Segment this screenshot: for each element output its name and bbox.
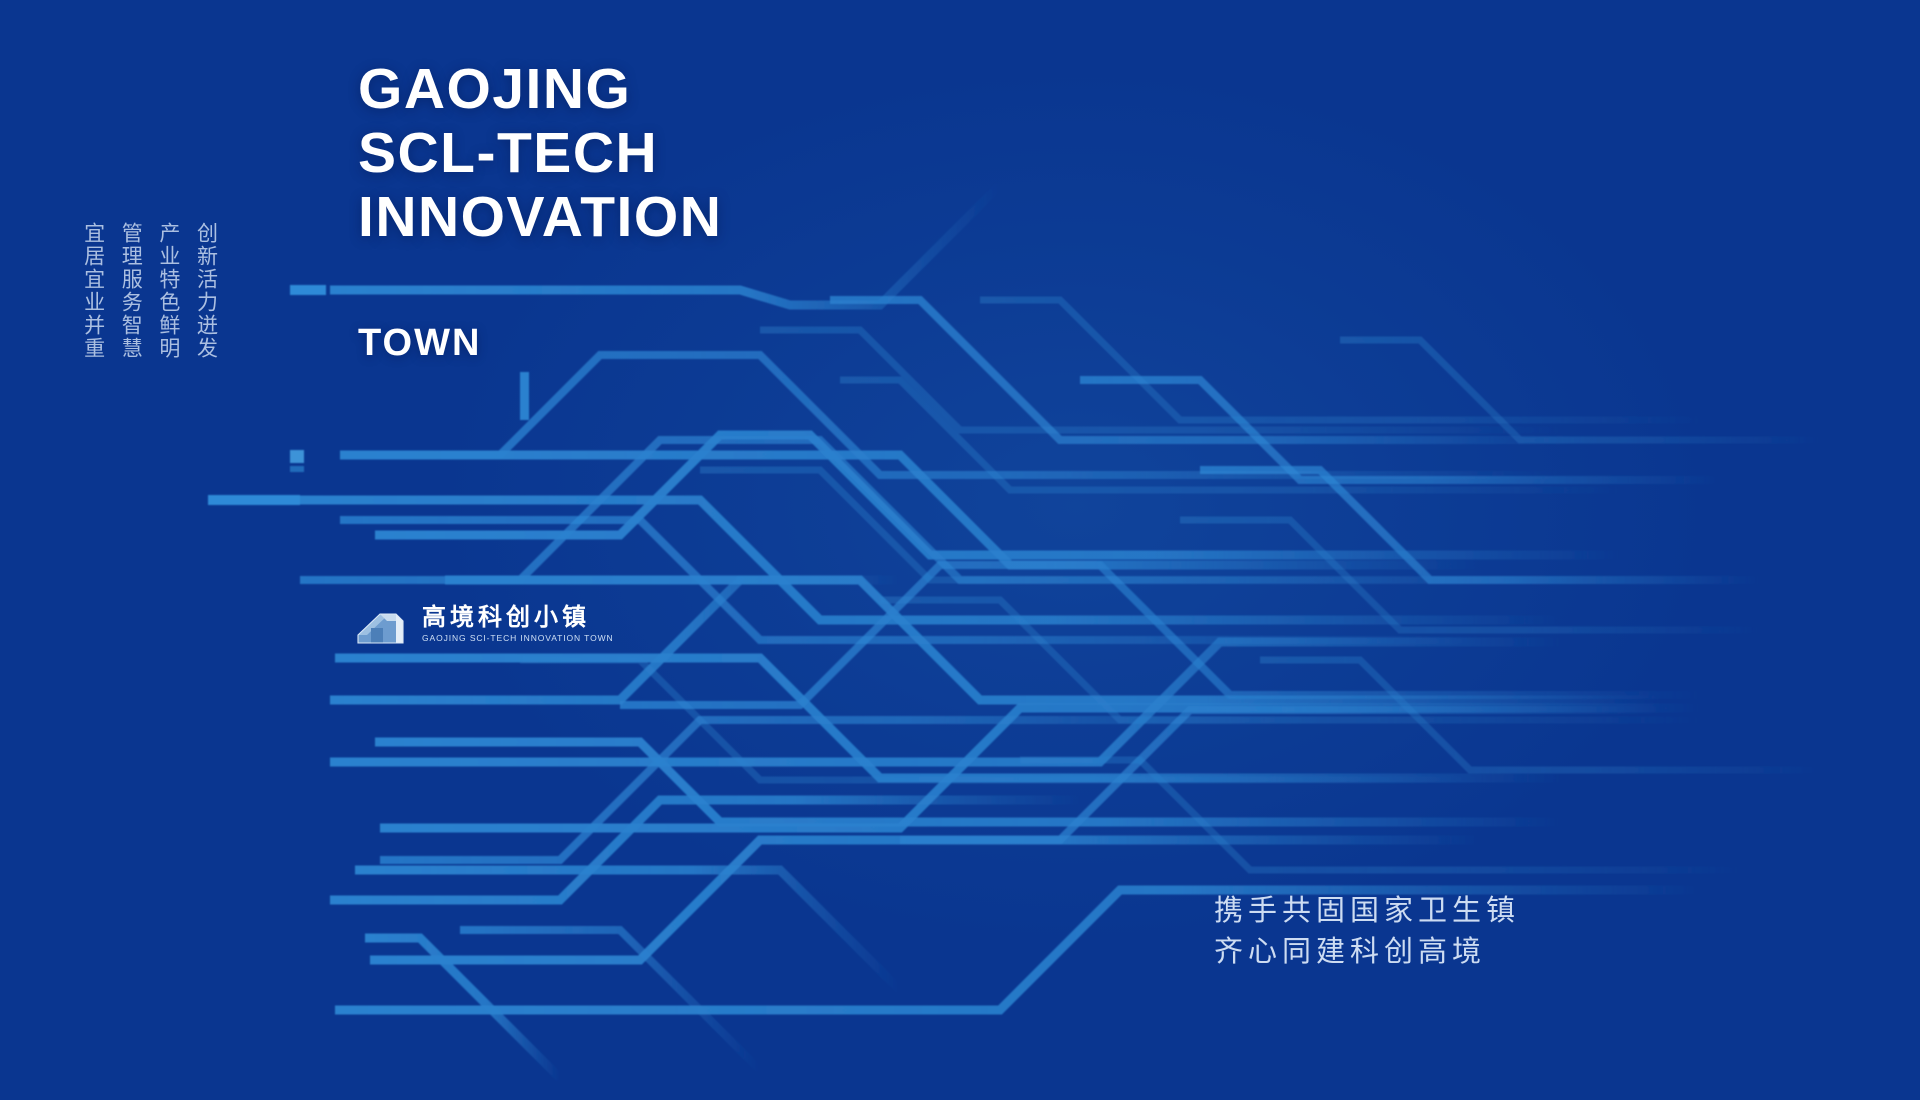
- bottom-right-slogan: 携手共固国家卫生镇 齐心同建科创高境: [1214, 890, 1520, 972]
- logo-name-en: GAOJING SCI-TECH INNOVATION TOWN: [422, 633, 614, 643]
- vertical-slogan-column-1: 创新活力迸发: [193, 222, 219, 360]
- vertical-slogan-column-4: 宜居宜业并重: [80, 222, 106, 360]
- brand-logo: 高境科创小镇 GAOJING SCI-TECH INNOVATION TOWN: [356, 602, 614, 646]
- poster-canvas: GAOJING SCL-TECH INNOVATION TOWN 创新活力迸发 …: [0, 0, 1920, 1100]
- vertical-slogan-column-3: 管理服务智慧: [118, 222, 144, 360]
- circuit-trace-background: [0, 0, 1920, 1100]
- page-title: GAOJING SCL-TECH INNOVATION: [358, 58, 722, 249]
- bottom-slogan-line-1: 携手共固国家卫生镇: [1214, 890, 1520, 931]
- bottom-slogan-line-2: 齐心同建科创高境: [1214, 931, 1520, 972]
- vertical-slogan: 创新活力迸发 产业特色鲜明 管理服务智慧 宜居宜业并重: [80, 222, 218, 360]
- headline-line-2: SCL-TECH: [358, 122, 722, 186]
- logo-name-cn: 高境科创小镇: [422, 605, 614, 630]
- logo-text-block: 高境科创小镇 GAOJING SCI-TECH INNOVATION TOWN: [422, 605, 614, 643]
- vertical-slogan-column-2: 产业特色鲜明: [155, 222, 181, 360]
- headline-town: TOWN: [358, 322, 481, 365]
- house-roof-icon: [356, 602, 412, 646]
- headline-line-1: GAOJING: [358, 58, 722, 122]
- headline-line-3: INNOVATION: [358, 186, 722, 250]
